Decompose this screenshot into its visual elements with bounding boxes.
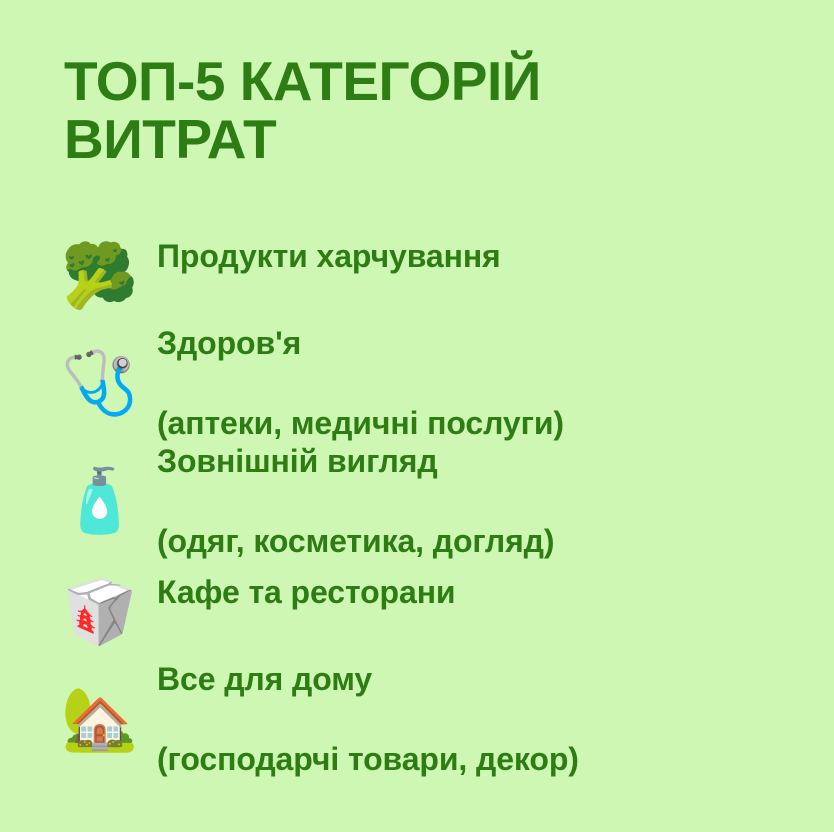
list-item-text: Все для дому (господарчі товари, декор): [157, 619, 834, 819]
list-item: 🏡 Все для дому (господарчі товари, декор…: [0, 664, 834, 774]
page-title: ТОП-5 КАТЕГОРІЙ ВИТРАТ: [64, 52, 704, 168]
list-item-secondary-label: (господарчі товари, декор): [157, 739, 834, 779]
broccoli-icon: 🥦: [52, 245, 148, 307]
list-item-primary-label: Продукти харчування: [157, 236, 834, 276]
list-item-primary-label: Кафе та ресторани: [157, 572, 834, 612]
takeout-box-icon: 🥡: [52, 581, 148, 643]
lotion-bottle-icon: 🧴: [52, 470, 148, 532]
list-item-primary-label: Здоров'я: [157, 323, 834, 363]
list-item-primary-label: Все для дому: [157, 659, 834, 699]
category-list: 🥦 Продукти харчування 🩺 Здоров'я (аптеки…: [0, 228, 834, 774]
list-item-primary-label: Зовнішній вигляд: [157, 441, 834, 481]
title-block: ТОП-5 КАТЕГОРІЙ ВИТРАТ: [64, 52, 704, 168]
infographic-card: ТОП-5 КАТЕГОРІЙ ВИТРАТ 🥦 Продукти харчув…: [0, 0, 834, 832]
stethoscope-icon: 🩺: [52, 352, 148, 414]
house-with-garden-icon: 🏡: [52, 688, 148, 750]
